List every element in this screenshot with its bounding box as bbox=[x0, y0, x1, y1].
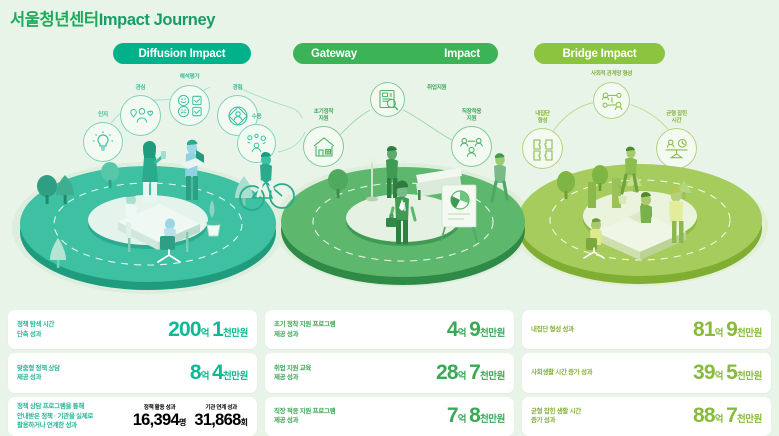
stat-metric-header: 정책 활용 성과 bbox=[144, 403, 176, 411]
ring-bridge bbox=[518, 147, 762, 284]
stat-card[interactable]: 맞춤형 정책 상담 제공 성과 8억4천만원 bbox=[8, 353, 257, 392]
section-pill-gateway[interactable]: Gateway Impact bbox=[293, 43, 498, 64]
resume-search-icon bbox=[370, 82, 405, 117]
stat-unit-sub: 천만원 bbox=[737, 368, 762, 382]
stat-caption: 정책 상담 프로그램을 통해 안내받은 정책 · 기관을 실제로 활용하거나 연… bbox=[17, 402, 93, 430]
stat-value-sub: 5 bbox=[726, 361, 737, 385]
journey-node-diffusion-0-label: 인지 bbox=[98, 112, 108, 119]
stats-panel: 정책 탐색 시간 단축 성과 200억1천만원 맞춤형 정책 상담 제공 성과 … bbox=[0, 310, 779, 436]
stat-caption: 맞춤형 정책 상담 제공 성과 bbox=[17, 364, 60, 383]
stat-value: 4억9천만원 bbox=[447, 318, 505, 342]
stat-unit-main: 억 bbox=[715, 411, 723, 425]
stat-metric: 기관 연계 성과 31,868회 bbox=[194, 403, 248, 430]
stat-caption: 취업 지원 교육 제공 성과 bbox=[274, 364, 311, 383]
stat-card[interactable]: 정책 탐색 시간 단축 성과 200억1천만원 bbox=[8, 310, 257, 349]
journey-node-diffusion-1-label: 관심 bbox=[136, 85, 146, 92]
stat-value-sub: 7 bbox=[726, 404, 737, 428]
stat-value-main: 81 bbox=[693, 318, 715, 342]
stats-column-bridge: 내집단 형성 성과 81억9천만원 사회생활 시간 증가 성과 39억5천만원 … bbox=[522, 310, 771, 436]
stat-card[interactable]: 사회생활 시간 증가 성과 39억5천만원 bbox=[522, 353, 771, 392]
stat-value-main: 7 bbox=[447, 404, 458, 428]
journey-node-bridge-1[interactable]: 사회적 관계망 형성 bbox=[593, 82, 630, 119]
stats-column-diffusion: 정책 탐색 시간 단축 성과 200억1천만원 맞춤형 정책 상담 제공 성과 … bbox=[8, 310, 257, 436]
stat-unit-sub: 천만원 bbox=[737, 325, 762, 339]
stat-caption: 직장 적응 지원 프로그램 제공 성과 bbox=[274, 407, 335, 426]
social-network-icon bbox=[593, 82, 630, 119]
section-pill-bridge-label: Bridge Impact bbox=[562, 48, 636, 60]
stat-value: 81억9천만원 bbox=[693, 318, 762, 342]
section-pill-gateway-label-b: Impact bbox=[444, 48, 480, 60]
section-pill-bridge[interactable]: Bridge Impact bbox=[534, 43, 665, 64]
stat-caption: 내집단 형성 성과 bbox=[531, 325, 574, 334]
stat-unit-main: 억 bbox=[201, 325, 209, 339]
stat-unit-sub: 천만원 bbox=[480, 411, 505, 425]
stat-unit-sub: 천만원 bbox=[737, 411, 762, 425]
journey-illustration bbox=[0, 120, 779, 305]
stat-unit-main: 억 bbox=[201, 368, 209, 382]
stat-value: 200억1천만원 bbox=[168, 318, 248, 342]
page-title-en: Impact Journey bbox=[99, 11, 215, 29]
section-pill-diffusion[interactable]: Diffusion Impact bbox=[113, 43, 251, 64]
stat-value-main: 28 bbox=[436, 361, 458, 385]
stat-value-main: 88 bbox=[693, 404, 715, 428]
stat-caption: 균형 잡힌 생활 시간 증가 성과 bbox=[531, 407, 581, 426]
stat-value: 39억5천만원 bbox=[693, 361, 762, 385]
stat-unit-main: 억 bbox=[715, 325, 723, 339]
stat-value-sub: 1 bbox=[212, 318, 223, 342]
stat-metric: 정책 활용 성과 16,394명 bbox=[133, 403, 187, 430]
journey-node-diffusion-2-label: 해석평가 bbox=[180, 74, 199, 81]
stat-caption: 정책 탐색 시간 단축 성과 bbox=[17, 320, 54, 339]
stat-unit-main: 억 bbox=[458, 325, 466, 339]
stat-value-sub: 4 bbox=[212, 361, 223, 385]
stat-card[interactable]: 초기 정착 지원 프로그램 제공 성과 4억9천만원 bbox=[265, 310, 514, 349]
stat-card[interactable]: 균형 잡힌 생활 시간 증가 성과 88억7천만원 bbox=[522, 397, 771, 436]
journey-node-bridge-1-label: 사회적 관계망 형성 bbox=[591, 71, 632, 78]
stat-metric-header: 기관 연계 성과 bbox=[205, 403, 237, 411]
stat-card[interactable]: 취업 지원 교육 제공 성과 28억7천만원 bbox=[265, 353, 514, 392]
stat-caption: 사회생활 시간 증가 성과 bbox=[531, 368, 592, 377]
stat-value-sub: 7 bbox=[469, 361, 480, 385]
stat-value-main: 39 bbox=[693, 361, 715, 385]
page-title: 서울청년센터Impact Journey bbox=[10, 6, 215, 30]
stat-unit-main: 억 bbox=[458, 368, 466, 382]
stat-metric-unit: 회 bbox=[241, 417, 248, 428]
section-pill-diffusion-label: Diffusion Impact bbox=[139, 48, 226, 60]
stat-unit-sub: 천만원 bbox=[480, 368, 505, 382]
stat-value-sub: 8 bbox=[469, 404, 480, 428]
infographic-root: 서울청년센터Impact Journey Diffusion Impact Ga… bbox=[0, 0, 779, 436]
page-title-ko: 서울청년센터 bbox=[10, 11, 99, 29]
journey-node-diffusion-3-label: 경험 bbox=[233, 85, 243, 92]
stat-value-main: 4 bbox=[447, 318, 458, 342]
journey-node-gateway-1[interactable]: 취업지원 bbox=[370, 82, 405, 117]
section-pill-gateway-label-a: Gateway bbox=[311, 48, 357, 60]
stat-unit-sub: 천만원 bbox=[480, 325, 505, 339]
stat-value-main: 8 bbox=[190, 361, 201, 385]
stat-value-sub: 9 bbox=[469, 318, 480, 342]
stat-metric-unit: 명 bbox=[179, 417, 186, 428]
stat-caption: 초기 정착 지원 프로그램 제공 성과 bbox=[274, 320, 335, 339]
stats-column-gateway: 초기 정착 지원 프로그램 제공 성과 4억9천만원 취업 지원 교육 제공 성… bbox=[265, 310, 514, 436]
stat-unit-sub: 천만원 bbox=[223, 325, 248, 339]
stat-metrics: 정책 활용 성과 16,394명 기관 연계 성과 31,868회 bbox=[133, 403, 248, 430]
stat-card-dual[interactable]: 정책 상담 프로그램을 통해 안내받은 정책 · 기관을 실제로 활용하거나 연… bbox=[8, 397, 257, 436]
stat-value: 28억7천만원 bbox=[436, 361, 505, 385]
stat-unit-main: 억 bbox=[458, 411, 466, 425]
stat-unit-sub: 천만원 bbox=[223, 368, 248, 382]
stat-value: 88억7천만원 bbox=[693, 404, 762, 428]
stat-unit-main: 억 bbox=[715, 368, 723, 382]
stat-card[interactable]: 직장 적응 지원 프로그램 제공 성과 7억8천만원 bbox=[265, 397, 514, 436]
stat-card[interactable]: 내집단 형성 성과 81억9천만원 bbox=[522, 310, 771, 349]
stat-metric-number: 31,868 bbox=[194, 411, 240, 430]
stat-value: 8억4천만원 bbox=[190, 361, 248, 385]
stat-metric-number: 16,394 bbox=[133, 411, 179, 430]
stat-value: 7억8천만원 bbox=[447, 404, 505, 428]
stat-value-sub: 9 bbox=[726, 318, 737, 342]
journey-node-gateway-1-label: 취업지원 bbox=[427, 85, 446, 92]
stat-value-main: 200 bbox=[168, 318, 201, 342]
